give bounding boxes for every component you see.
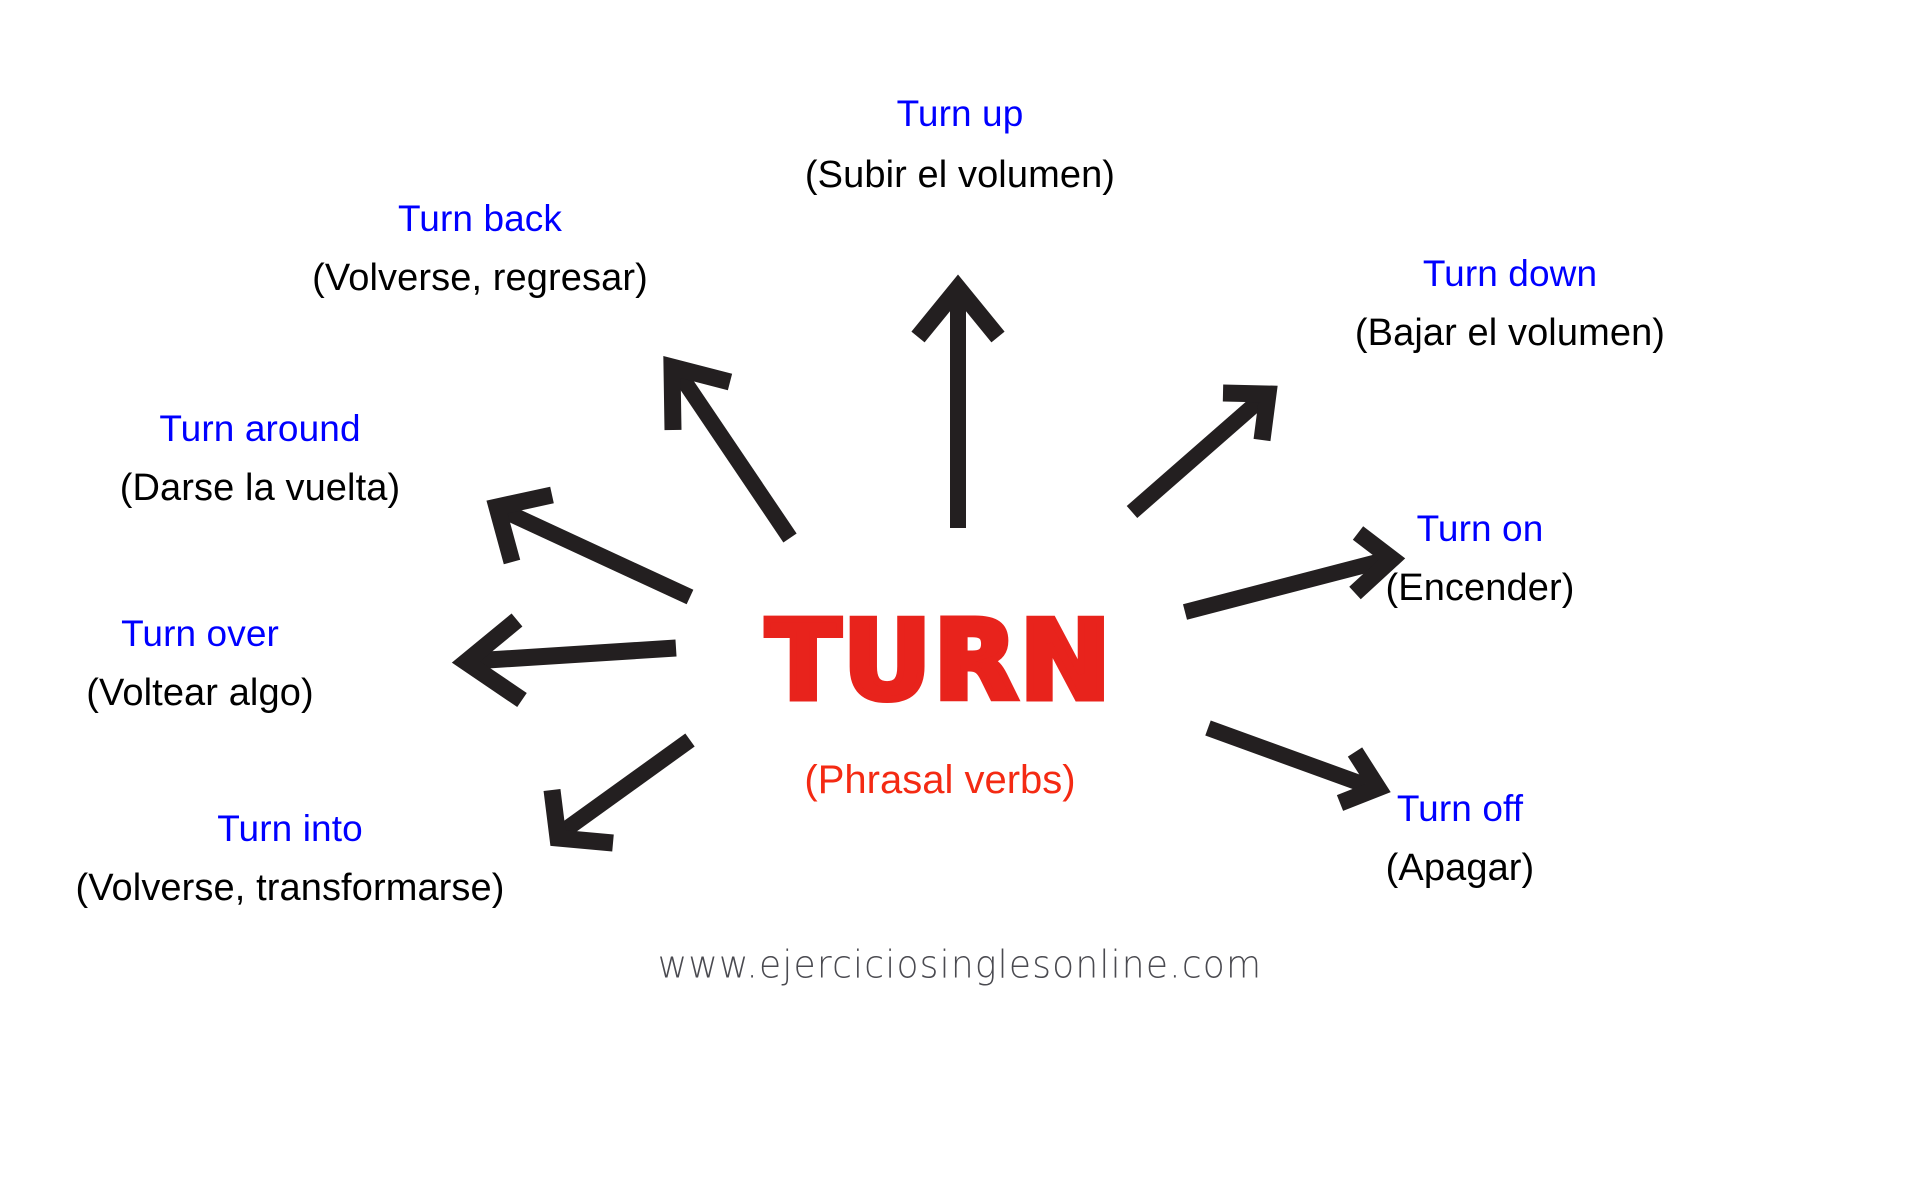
center-subtitle: (Phrasal verbs) [660, 760, 1220, 800]
arrow-up-left-steep [672, 367, 790, 538]
arrow-up-right [1132, 393, 1268, 512]
node-label-en: Turn on [1200, 510, 1760, 547]
node-turn-on: Turn on (Encender) [1200, 510, 1760, 607]
node-label-en: Turn into [10, 810, 570, 847]
node-label-es: (Voltear algo) [0, 674, 480, 712]
center-word: TURN [660, 608, 1220, 716]
node-turn-off: Turn off (Apagar) [1180, 790, 1740, 887]
node-label-es: (Volverse, regresar) [200, 259, 760, 297]
node-label-en: Turn down [1230, 255, 1790, 292]
node-turn-over: Turn over (Voltear algo) [0, 615, 480, 712]
arrow-left [466, 620, 676, 700]
node-label-en: Turn off [1180, 790, 1740, 827]
node-turn-up: Turn up (Subir el volumen) [680, 95, 1240, 194]
node-label-es: (Apagar) [1180, 849, 1740, 887]
node-label-en: Turn back [200, 200, 760, 237]
node-label-es: (Subir el volumen) [680, 156, 1240, 194]
node-label-en: Turn over [0, 615, 480, 652]
node-turn-into: Turn into (Volverse, transformarse) [10, 810, 570, 907]
node-turn-down: Turn down (Bajar el volumen) [1230, 255, 1790, 352]
arrow-up-left-shallow [497, 495, 690, 597]
node-label-es: (Darse la vuelta) [0, 469, 540, 507]
node-turn-back: Turn back (Volverse, regresar) [200, 200, 760, 297]
node-label-es: (Bajar el volumen) [1230, 314, 1790, 352]
arrow-up [918, 288, 998, 528]
watermark-url: www.ejerciciosinglesonline.com [460, 947, 1460, 985]
node-turn-around: Turn around (Darse la vuelta) [0, 410, 540, 507]
diagram-canvas: TURN (Phrasal verbs) Turn up (Subir el v… [0, 0, 1920, 1200]
node-label-es: (Volverse, transformarse) [10, 869, 570, 907]
node-label-es: (Encender) [1200, 569, 1760, 607]
node-label-en: Turn up [680, 95, 1240, 132]
node-label-en: Turn around [0, 410, 540, 447]
